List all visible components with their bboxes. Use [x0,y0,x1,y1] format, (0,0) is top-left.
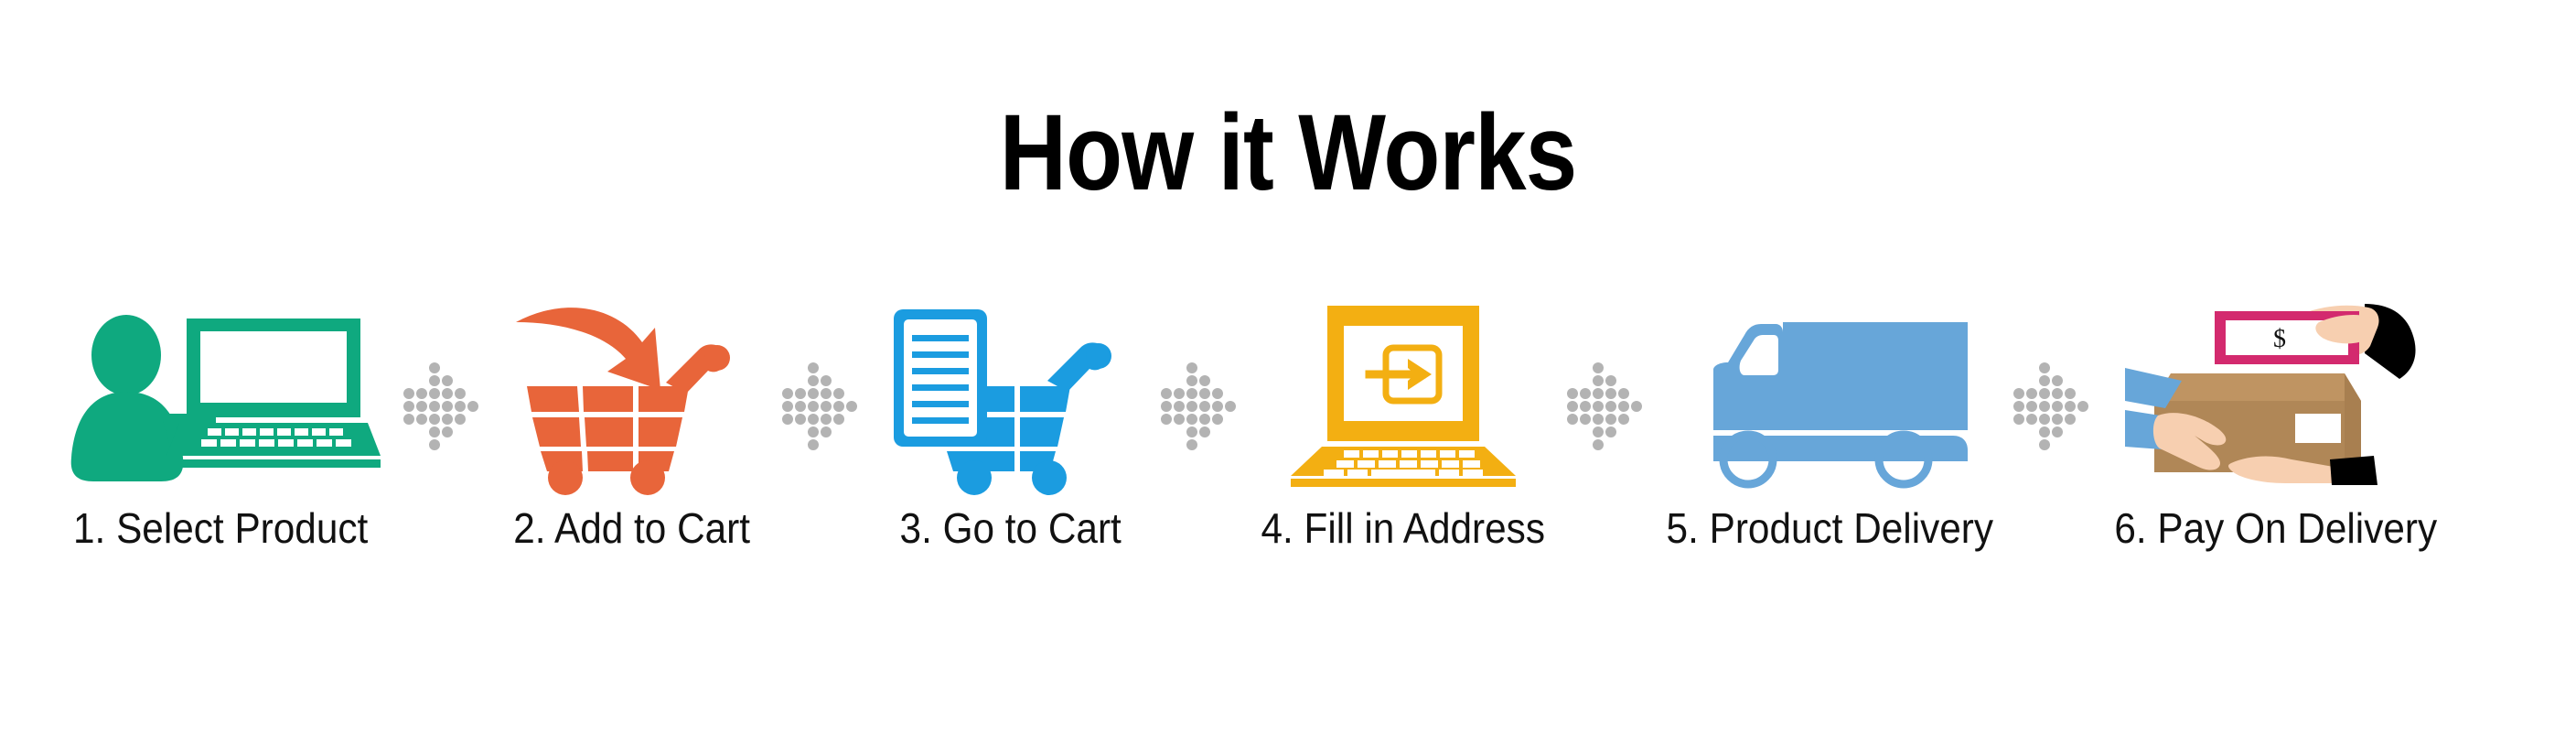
dotted-arrow-right-icon [1156,302,1244,485]
step-6-pay-on-delivery[interactable]: $ [2097,302,2455,551]
hands-exchanging-box-and-money-icon: $ [2125,302,2427,485]
step-3-label: 3. Go to Cart [900,505,1122,551]
step-1-select-product[interactable]: 1. Select Product [42,302,399,551]
dotted-arrow-right-icon [1562,302,1650,485]
step-2-label: 2. Add to Cart [514,505,751,551]
how-it-works-infographic: How it Works [0,0,2576,745]
shopping-cart-with-arrow-icon [509,302,756,485]
cart-with-document-icon [886,302,1135,485]
step-3-go-to-cart[interactable]: 3. Go to Cart [865,302,1156,551]
svg-text:$: $ [2273,325,2286,353]
dotted-arrow-right-icon [778,302,865,485]
dotted-arrow-right-icon [2009,302,2097,485]
step-6-label: 6. Pay On Delivery [2115,505,2438,551]
steps-row: 1. Select Product [0,302,2576,632]
delivery-truck-icon [1688,302,1971,485]
page-title: How it Works [180,99,2396,207]
step-2-add-to-cart[interactable]: 2. Add to Cart [487,302,778,551]
person-with-laptop-icon [70,302,371,485]
dotted-arrow-right-icon [399,302,487,485]
laptop-with-login-arrow-icon [1271,302,1536,485]
step-4-label: 4. Fill in Address [1261,505,1545,551]
step-1-label: 1. Select Product [73,505,368,551]
step-5-product-delivery[interactable]: 5. Product Delivery [1650,302,2009,551]
step-5-label: 5. Product Delivery [1666,505,1993,551]
step-4-fill-in-address[interactable]: 4. Fill in Address [1244,302,1562,551]
